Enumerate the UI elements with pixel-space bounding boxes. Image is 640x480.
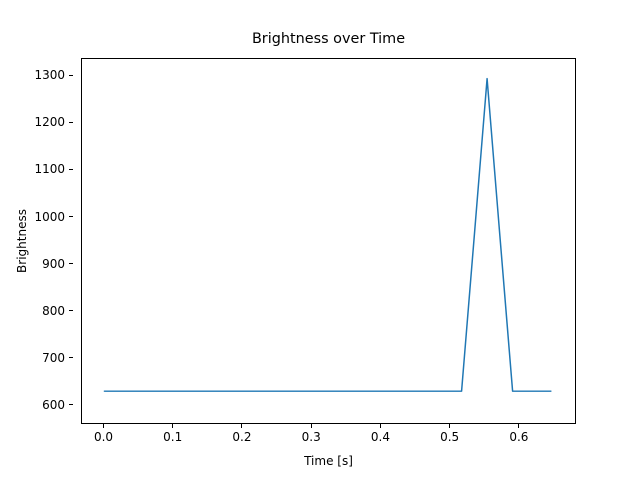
- y-tick-label: 1100: [34, 163, 65, 175]
- x-tick-mark: [241, 424, 242, 428]
- data-line-svg: [82, 59, 575, 423]
- x-tick-mark: [380, 424, 381, 428]
- x-tick-label: 0.5: [440, 431, 459, 443]
- x-tick-mark: [449, 424, 450, 428]
- y-tick-mark: [69, 216, 73, 217]
- y-tick-label: 800: [42, 305, 65, 317]
- y-tick-label: 1300: [34, 69, 65, 81]
- y-tick-mark: [69, 263, 73, 264]
- y-tick-label: 600: [42, 399, 65, 411]
- y-tick-label: 1000: [34, 211, 65, 223]
- y-tick-mark: [69, 169, 73, 170]
- x-tick-label: 0.2: [232, 431, 251, 443]
- x-tick-label: 0.4: [371, 431, 390, 443]
- y-tick-label: 700: [42, 352, 65, 364]
- y-tick-mark: [69, 75, 73, 76]
- y-tick-label: 900: [42, 258, 65, 270]
- x-tick-label: 0.0: [94, 431, 113, 443]
- plot-area: [81, 58, 576, 424]
- chart-title: Brightness over Time: [81, 30, 576, 48]
- x-tick-mark: [172, 424, 173, 428]
- x-tick-label: 0.3: [302, 431, 321, 443]
- x-tick-mark: [311, 424, 312, 428]
- x-tick-label: 0.1: [163, 431, 182, 443]
- y-axis-tick-labels: 6007008009001000110012001300: [0, 58, 73, 424]
- y-tick-mark: [69, 357, 73, 358]
- y-tick-label: 1200: [34, 116, 65, 128]
- x-tick-label: 0.6: [509, 431, 528, 443]
- matplotlib-figure: Brightness over Time Brightness 60070080…: [0, 0, 640, 480]
- x-axis-tick-labels: 0.00.10.20.30.40.50.6: [0, 431, 640, 447]
- brightness-line: [104, 79, 550, 392]
- x-tick-mark: [518, 424, 519, 428]
- x-axis-label: Time [s]: [81, 454, 576, 468]
- y-tick-mark: [69, 404, 73, 405]
- x-tick-mark: [103, 424, 104, 428]
- y-tick-mark: [69, 122, 73, 123]
- y-tick-mark: [69, 310, 73, 311]
